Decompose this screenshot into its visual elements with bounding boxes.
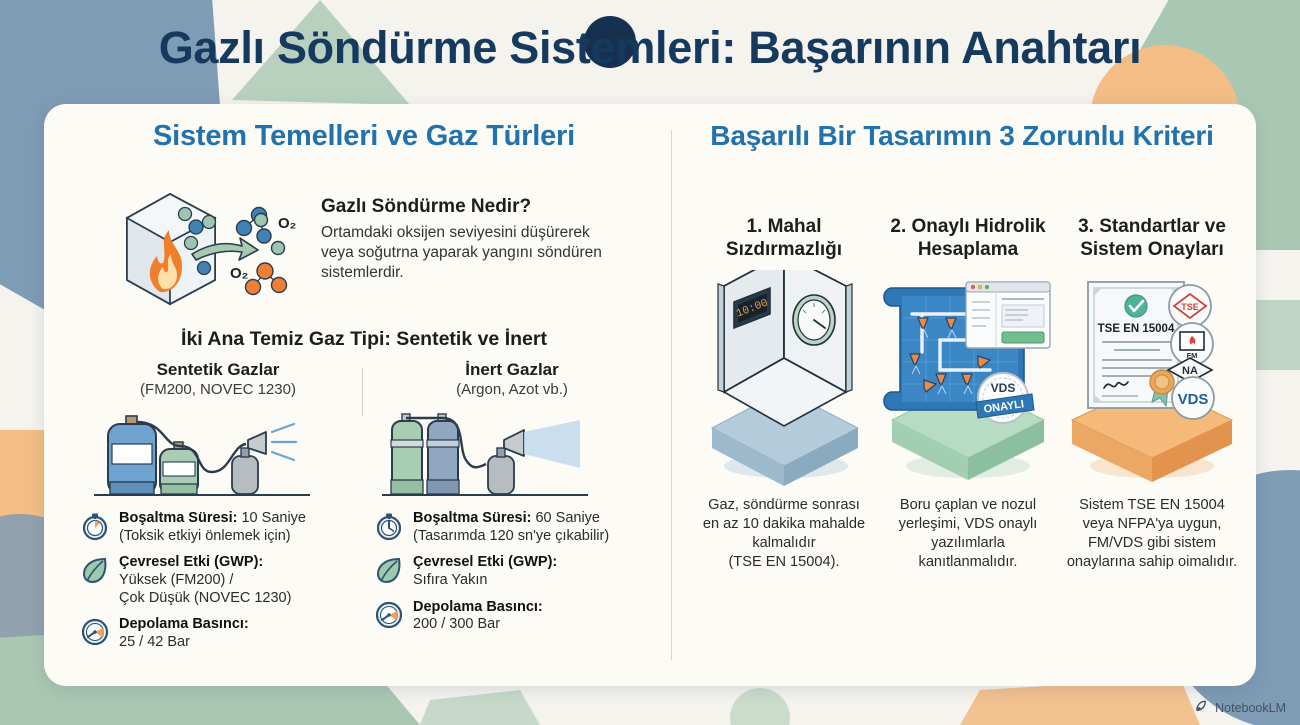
stopwatch-icon bbox=[80, 511, 110, 541]
fact-text: Depolama Basıncı: 200 / 300 Bar bbox=[413, 599, 543, 634]
criterion-body-line1: Gaz, söndürme sonrası bbox=[708, 497, 860, 513]
badge-tse-label: TSE bbox=[1181, 302, 1199, 312]
badge-na-label: NA bbox=[1182, 365, 1198, 377]
criterion-body-line3: FM/VDS gibi sistem bbox=[1088, 535, 1216, 551]
main-content-card: Sistem Temelleri ve Gaz Türleri bbox=[44, 104, 1256, 686]
definition-title: Gazlı Söndürme Nedir? bbox=[321, 196, 621, 218]
inert-gas-facts: Boşaltma Süresi: 60 Saniye (Tasarımda 12… bbox=[374, 510, 650, 634]
criterion-title: 3. Standartlar ve Sistem Onayları bbox=[1062, 216, 1242, 264]
left-column: Sistem Temelleri ve Gaz Türleri bbox=[74, 120, 654, 670]
fact-note-line2: Çok Düşük (NOVEC 1230) bbox=[119, 590, 291, 606]
notebooklm-label: NotebookLM bbox=[1215, 701, 1286, 715]
definition-block: O₂ O₂ Gazlı Söndürme Nedir? Ortamdaki ok… bbox=[74, 182, 654, 302]
fact-row: Depolama Basıncı: 25 / 42 Bar bbox=[80, 616, 356, 651]
fact-row: Boşaltma Süresi: 60 Saniye (Tasarımda 12… bbox=[374, 510, 650, 545]
gas-type-examples: (FM200, NOVEC 1230) bbox=[80, 381, 356, 398]
criterion-title-line2: Hesaplama bbox=[918, 239, 1018, 260]
fact-text: Çevresel Etki (GWP): Yüksek (FM200) / Ço… bbox=[119, 554, 291, 607]
certificate-title-label: TSE EN 15004 bbox=[1098, 323, 1175, 335]
synthetic-gas-cylinders-illustration bbox=[80, 402, 356, 506]
inert-gas-cylinders-illustration bbox=[374, 402, 650, 506]
column-divider bbox=[671, 130, 672, 660]
pressure-gauge-icon bbox=[80, 617, 110, 647]
certificate-approvals-illustration: TSE EN 15004 bbox=[1062, 270, 1242, 490]
fact-row: Depolama Basıncı: 200 / 300 Bar bbox=[374, 599, 650, 634]
fact-note-line1: Yüksek (FM200) / bbox=[119, 572, 233, 588]
fact-text: Boşaltma Süresi: 10 Saniye (Toksik etkiy… bbox=[119, 510, 306, 545]
gas-type-examples: (Argon, Azot vb.) bbox=[374, 381, 650, 398]
definition-body: Ortamdaki oksijen seviyesini düşürerek v… bbox=[321, 223, 621, 282]
criterion-1: 1. Mahal Sızdırmazlığı bbox=[694, 216, 874, 572]
criterion-body-line1: Boru çaplan ve nozul bbox=[900, 497, 1036, 513]
criterion-title-line2: Sızdırmazlığı bbox=[726, 239, 842, 260]
criterion-title-line1: 1. Mahal bbox=[747, 216, 822, 237]
synthetic-gas-facts: Boşaltma Süresi: 10 Saniye (Toksik etkiy… bbox=[80, 510, 356, 652]
leaf-icon bbox=[374, 555, 404, 585]
criterion-body-line4: (TSE EN 15004). bbox=[728, 554, 839, 570]
infographic-canvas: Gazlı Söndürme Sistemleri: Başarının Ana… bbox=[0, 0, 1300, 725]
definition-text: Gazlı Söndürme Nedir? Ortamdaki oksijen … bbox=[321, 196, 621, 282]
fact-row: Çevresel Etki (GWP): Yüksek (FM200) / Ço… bbox=[80, 554, 356, 607]
gas-type-name: Sentetik Gazlar bbox=[80, 360, 356, 380]
fact-text: Çevresel Etki (GWP): Sıfıra Yakın bbox=[413, 554, 557, 589]
criterion-body: Sistem TSE EN 15004 veya NFPA'ya uygun, … bbox=[1062, 496, 1242, 572]
pressure-gauge-icon bbox=[374, 600, 404, 630]
criterion-body-line2: veya NFPA'ya uygun, bbox=[1083, 516, 1222, 532]
gas-type-name: İnert Gazlar bbox=[374, 360, 650, 380]
criterion-body-line1: Sistem TSE EN 15004 bbox=[1079, 497, 1225, 513]
badge-vds-label: VDS bbox=[1178, 391, 1209, 408]
leaf-icon bbox=[80, 555, 110, 585]
hydraulic-calculation-blueprint-illustration: VDS ONAYLI bbox=[878, 270, 1058, 490]
criterion-body-line2: yerleşimi, VDS onaylı bbox=[899, 516, 1038, 532]
right-column: Başarılı Bir Tasarımın 3 Zorunlu Kriteri… bbox=[684, 120, 1240, 670]
page-title: Gazlı Söndürme Sistemleri: Başarının Ana… bbox=[0, 22, 1300, 74]
gas-types-heading: İki Ana Temiz Gaz Tipi: Sentetik ve İner… bbox=[74, 328, 654, 351]
criterion-body-line3: yazılımlarla bbox=[931, 535, 1005, 551]
sealed-room-isometric-illustration: 10:00 bbox=[694, 270, 874, 490]
criterion-body-line4: onaylarına sahip oimalıdır. bbox=[1067, 554, 1237, 570]
criterion-title-line1: 3. Standartlar ve bbox=[1078, 216, 1226, 237]
fact-text: Boşaltma Süresi: 60 Saniye (Tasarımda 12… bbox=[413, 510, 609, 545]
stopwatch-icon bbox=[374, 511, 404, 541]
criterion-body-line4: kanıtlanmalıdır. bbox=[919, 554, 1018, 570]
o2-label-top: O₂ bbox=[278, 215, 296, 232]
criterion-title-line2: Sistem Onayları bbox=[1080, 239, 1224, 260]
fact-text: Depolama Basıncı: 25 / 42 Bar bbox=[119, 616, 249, 651]
fact-row: Boşaltma Süresi: 10 Saniye (Toksik etkiy… bbox=[80, 510, 356, 545]
criterion-title: 2. Onaylı Hidrolik Hesaplama bbox=[878, 216, 1058, 264]
left-section-heading: Sistem Temelleri ve Gaz Türleri bbox=[74, 120, 654, 153]
criterion-body: Gaz, söndürme sonrası en az 10 dakika ma… bbox=[694, 496, 874, 572]
gas-type-inert: İnert Gazlar (Argon, Azot vb.) bbox=[374, 360, 650, 643]
criterion-3: 3. Standartlar ve Sistem Onayları bbox=[1062, 216, 1242, 572]
criterion-body-line3: kalmalıdır bbox=[752, 535, 815, 551]
notebooklm-logo-icon bbox=[1195, 699, 1210, 717]
gas-columns-divider bbox=[362, 368, 363, 416]
enclosure-fire-oxygen-diagram: O₂ O₂ bbox=[112, 184, 302, 312]
criterion-2: 2. Onaylı Hidrolik Hesaplama bbox=[878, 216, 1058, 572]
gas-type-synthetic: Sentetik Gazlar (FM200, NOVEC 1230) bbox=[80, 360, 356, 661]
criterion-title-line1: 2. Onaylı Hidrolik bbox=[890, 216, 1045, 237]
seal-badge-top-label: VDS bbox=[991, 381, 1016, 395]
notebooklm-watermark: NotebookLM bbox=[1195, 699, 1286, 717]
criterion-body: Boru çaplan ve nozul yerleşimi, VDS onay… bbox=[878, 496, 1058, 572]
right-section-heading: Başarılı Bir Tasarımın 3 Zorunlu Kriteri bbox=[684, 120, 1240, 152]
criterion-body-line2: en az 10 dakika mahalde bbox=[703, 516, 865, 532]
criterion-title: 1. Mahal Sızdırmazlığı bbox=[694, 216, 874, 264]
o2-label-bottom: O₂ bbox=[230, 265, 248, 282]
fact-row: Çevresel Etki (GWP): Sıfıra Yakın bbox=[374, 554, 650, 589]
